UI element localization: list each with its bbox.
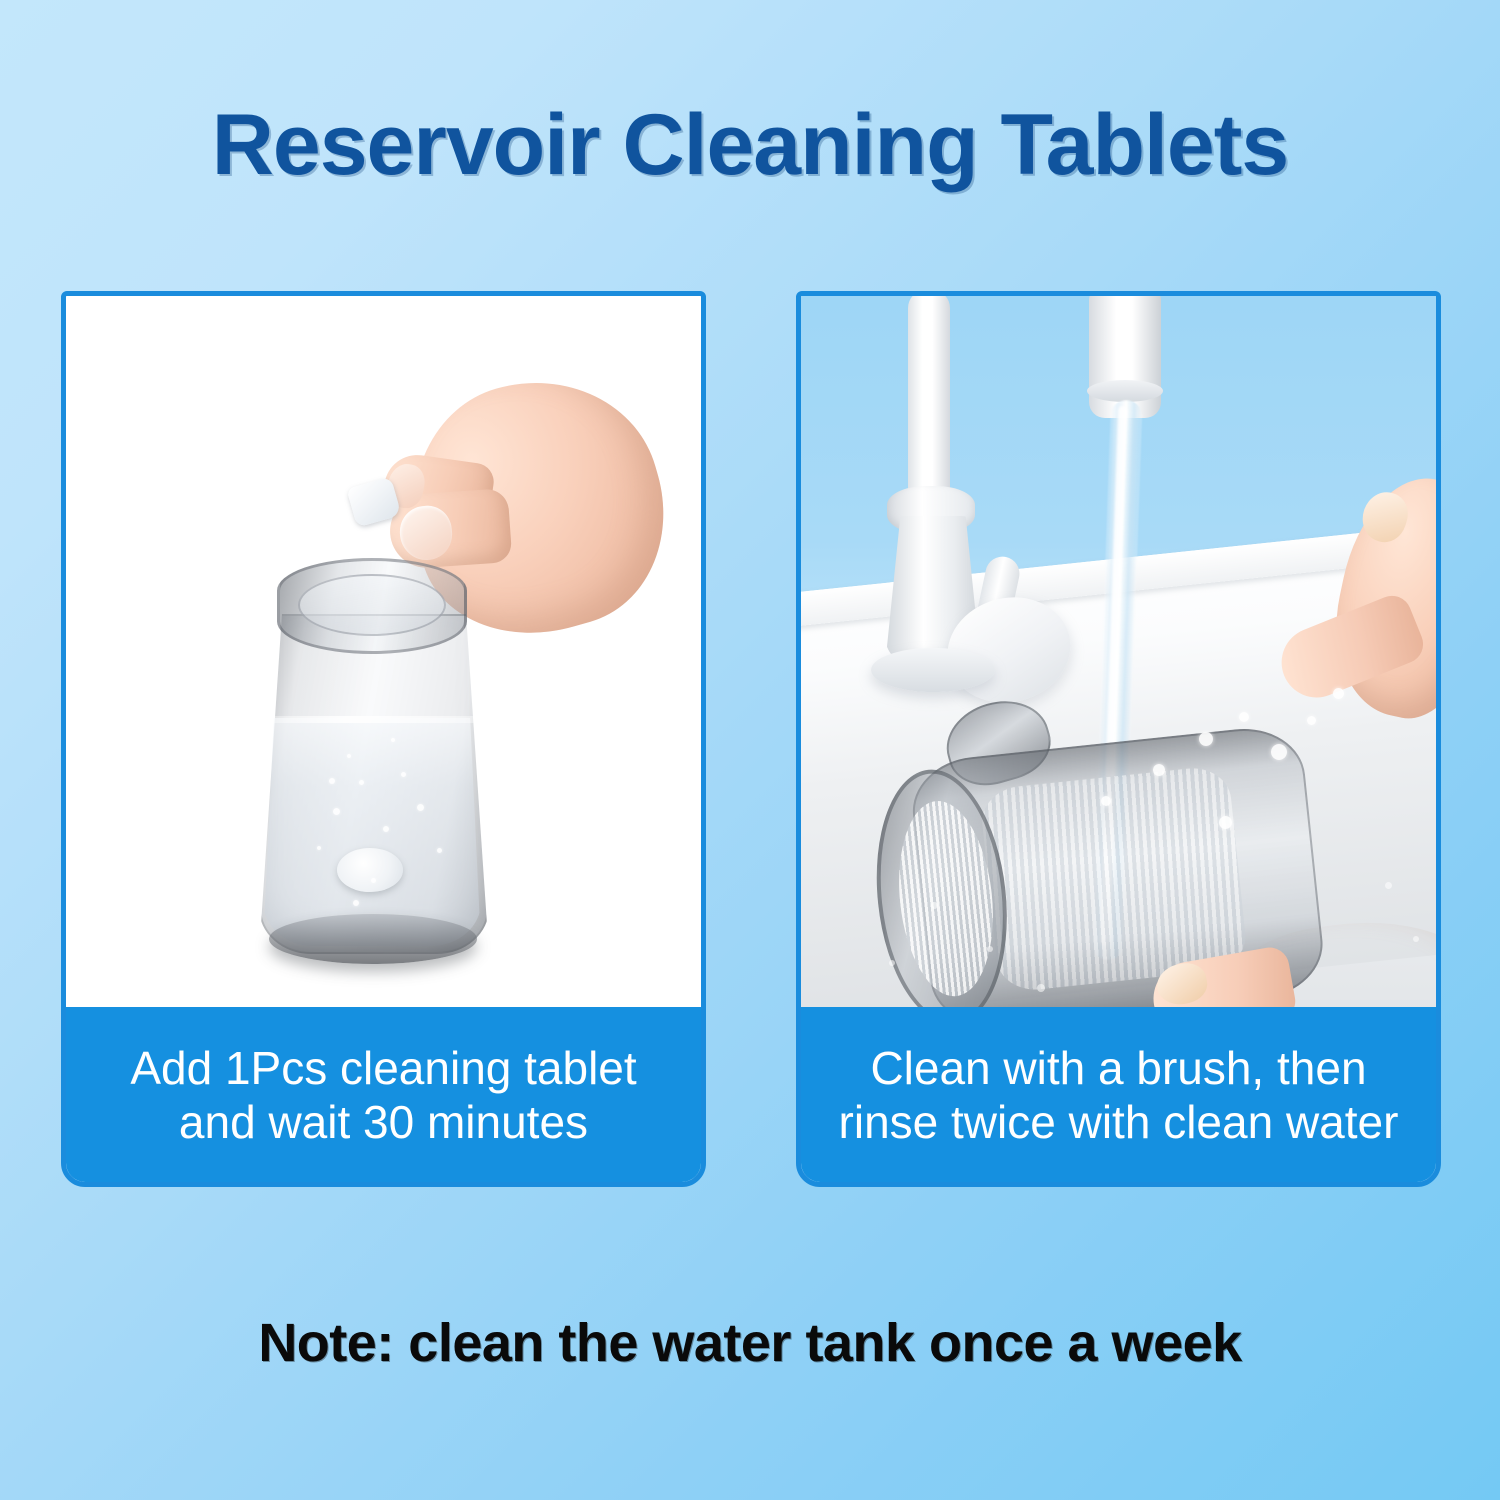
bubble	[383, 826, 389, 832]
bubble	[401, 772, 406, 777]
caption-line-1: Add 1Pcs cleaning tablet	[130, 1041, 636, 1095]
dissolving-tablet	[337, 848, 403, 892]
water-splash	[1239, 712, 1249, 722]
bubble	[347, 754, 351, 758]
faucet-foot	[871, 648, 995, 692]
tank-opening	[298, 574, 446, 636]
bubble	[437, 848, 442, 853]
water-splash	[1199, 732, 1213, 746]
bubble	[391, 738, 395, 742]
step-caption: Clean with a brush, then rinse twice wit…	[801, 1007, 1436, 1182]
caption-line-1: Clean with a brush, then	[839, 1041, 1399, 1095]
footer-note: Note: clean the water tank once a week	[0, 1312, 1500, 1374]
faucet-spout-ring	[1087, 380, 1163, 402]
water-splash	[1101, 796, 1111, 806]
water-splash	[1219, 816, 1232, 829]
water-splash	[1271, 744, 1287, 760]
tank-water	[263, 718, 481, 946]
water-droplet	[931, 902, 938, 909]
water-droplet	[1413, 936, 1419, 942]
step-card-rinse: Clean with a brush, then rinse twice wit…	[796, 291, 1441, 1187]
water-splash	[1307, 716, 1316, 725]
water-droplet	[1037, 984, 1045, 992]
tank-water-line	[265, 716, 479, 723]
bubble	[329, 778, 335, 784]
photo-rinsing-reservoir	[801, 296, 1436, 1012]
water-splash	[1153, 764, 1165, 776]
bubble	[353, 900, 359, 906]
bubble	[359, 780, 364, 785]
caption-line-2: rinse twice with clean water	[839, 1095, 1399, 1149]
bubble	[417, 804, 424, 811]
page-title: Reservoir Cleaning Tablets	[0, 96, 1500, 195]
caption-line-2: and wait 30 minutes	[130, 1095, 636, 1149]
infographic-root: Reservoir Cleaning Tablets	[0, 0, 1500, 1500]
bubble	[317, 846, 321, 850]
water-reservoir-tank	[241, 558, 503, 958]
bubble	[371, 878, 376, 883]
step-caption: Add 1Pcs cleaning tablet and wait 30 min…	[66, 1007, 701, 1182]
step-card-add-tablet: Add 1Pcs cleaning tablet and wait 30 min…	[61, 291, 706, 1187]
water-droplet	[889, 960, 895, 966]
water-droplet	[987, 946, 993, 952]
photo-hand-dropping-tablet	[66, 296, 701, 1012]
tank-base	[269, 914, 477, 964]
water-splash	[1333, 688, 1344, 699]
water-droplet	[1385, 882, 1392, 889]
bubble	[333, 808, 340, 815]
